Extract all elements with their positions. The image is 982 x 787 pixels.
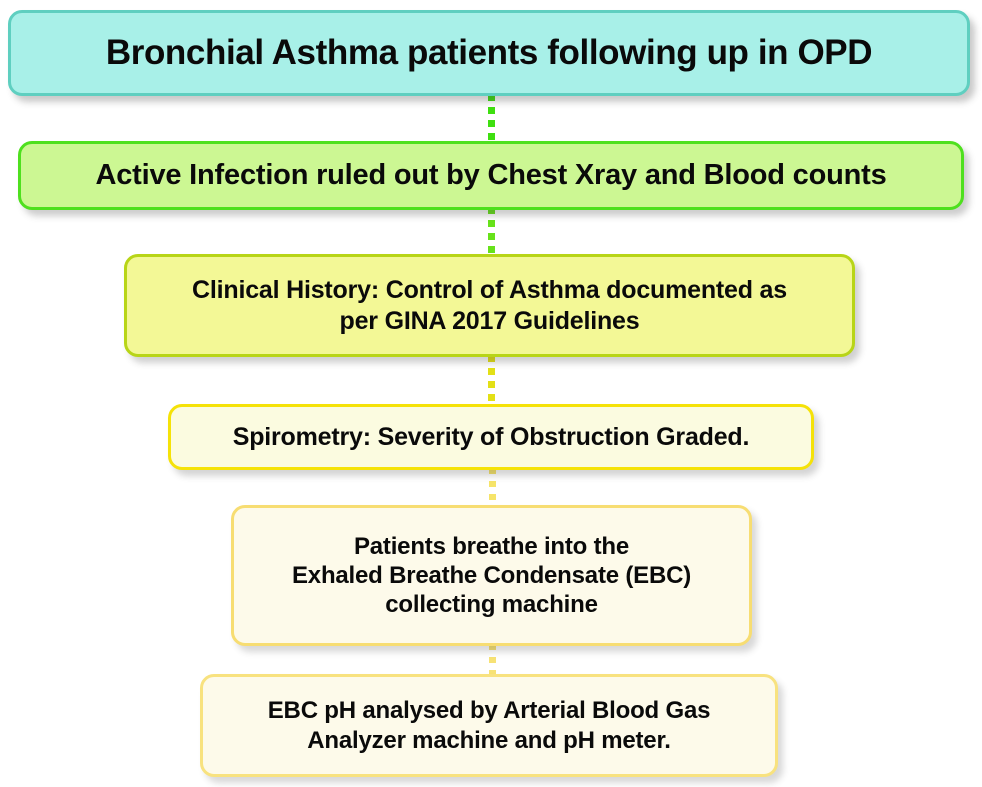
connector-node3-to-node4 <box>488 355 495 407</box>
flowchart-node-clinical-history: Clinical History: Control of Asthma docu… <box>124 254 855 357</box>
connector-node4-to-node5 <box>489 468 496 508</box>
flowchart-node-population-label: Bronchial Asthma patients following up i… <box>11 32 967 75</box>
flowchart-node-ebc-ph-analysis: EBC pH analysed by Arterial Blood Gas An… <box>200 674 778 777</box>
flowchart-node-ebc-collection-label: Patients breathe into the Exhaled Breath… <box>234 532 749 620</box>
connector-node1-to-node2 <box>488 94 495 144</box>
flowchart-node-infection-screening-label: Active Infection ruled out by Chest Xray… <box>21 158 961 193</box>
flowchart-node-ebc-collection: Patients breathe into the Exhaled Breath… <box>231 505 752 646</box>
flowchart-node-clinical-history-label: Clinical History: Control of Asthma docu… <box>127 275 852 336</box>
flowchart-canvas: Bronchial Asthma patients following up i… <box>0 0 982 787</box>
connector-node5-to-node6 <box>489 644 496 677</box>
flowchart-node-spirometry: Spirometry: Severity of Obstruction Grad… <box>168 404 814 470</box>
flowchart-node-population: Bronchial Asthma patients following up i… <box>8 10 970 96</box>
connector-node2-to-node3 <box>488 207 495 257</box>
flowchart-node-infection-screening: Active Infection ruled out by Chest Xray… <box>18 141 964 210</box>
flowchart-node-spirometry-label: Spirometry: Severity of Obstruction Grad… <box>171 422 811 453</box>
flowchart-node-ebc-ph-analysis-label: EBC pH analysed by Arterial Blood Gas An… <box>203 696 775 755</box>
